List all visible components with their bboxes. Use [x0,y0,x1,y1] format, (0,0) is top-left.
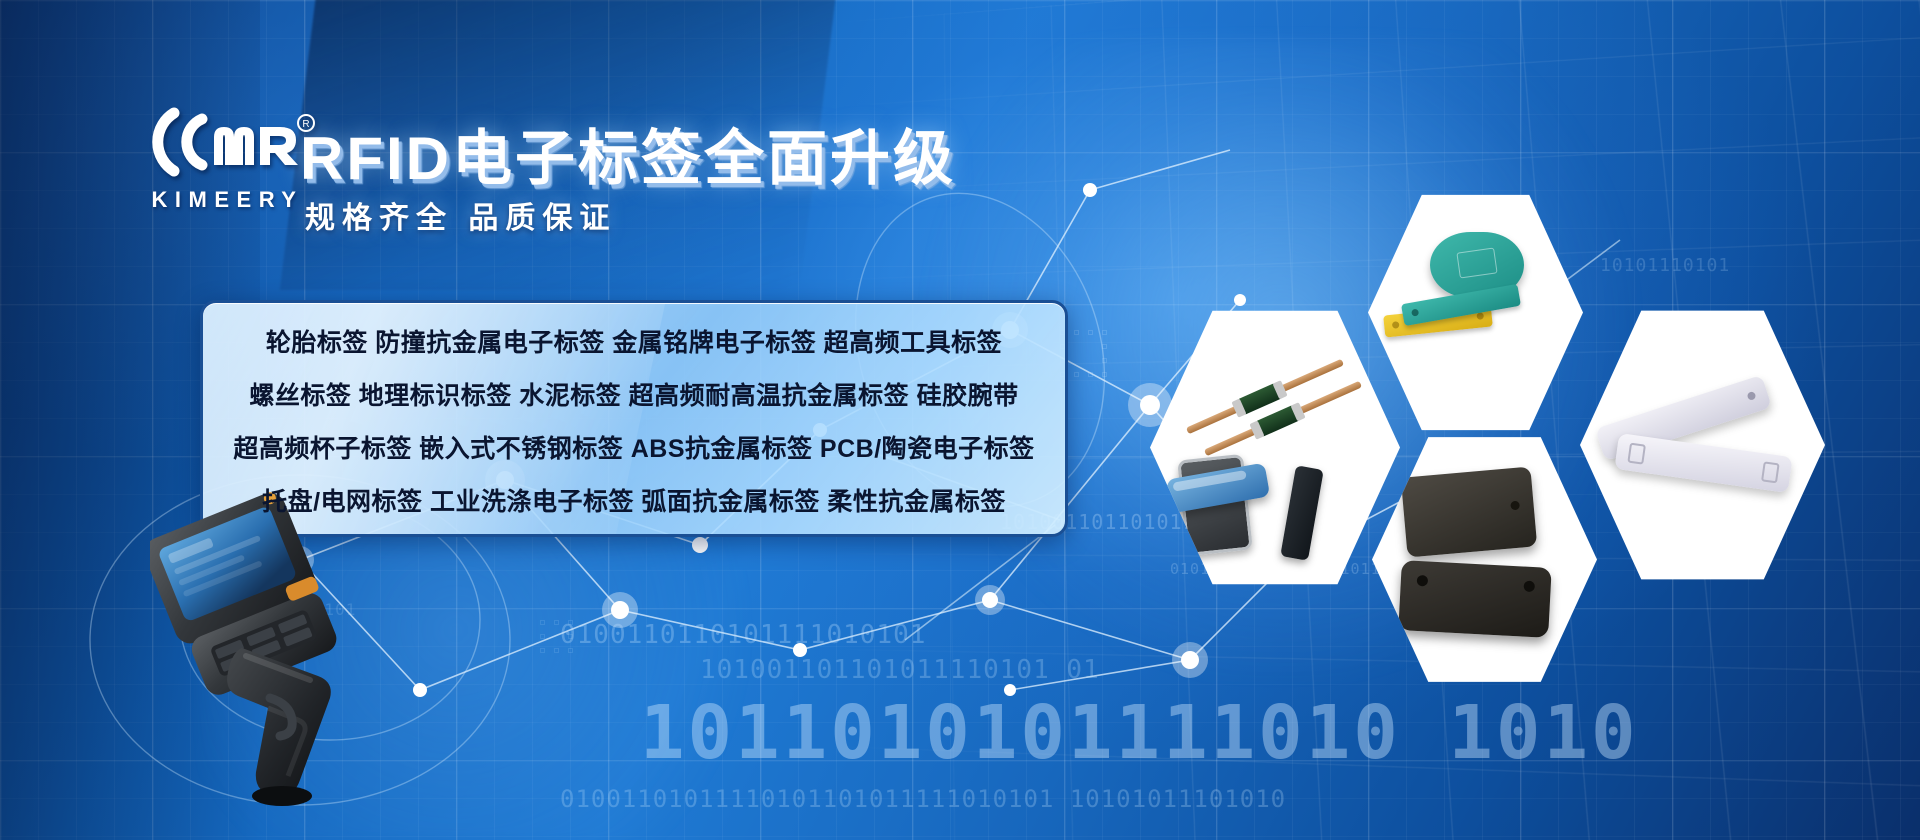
rfid-promo-banner: 0100110110101111010101 10100110110101111… [0,0,1920,840]
page-title: RFID电子标签全面升级 [300,110,956,197]
binary-strip: 10101110101 [1600,255,1730,276]
product-row: 螺丝标签 地理标识标签 水泥标签 超高频耐高温抗金属标签 硅胶腕带 [203,370,1065,423]
dark-abs-tag-1 [1401,466,1537,557]
dark-abs-tag-2 [1398,560,1551,638]
binary-strip: 01001101011110101101011111010101 1010101… [560,785,1286,813]
rfid-handheld-reader [150,480,410,810]
product-row: 超高频杯子标签 嵌入式不锈钢标签 ABS抗金属标签 PCB/陶瓷电子标签 [203,423,1065,476]
black-bar-tag [1280,465,1324,560]
binary-strip: 101001101101011110101 01 [700,655,1100,685]
product-list-panel: 轮胎标签 防撞抗金属电子标签 金属铭牌电子标签 超高频工具标签 螺丝标签 地理标… [200,300,1068,537]
binary-strip: 0100110110101111010101 [560,620,926,650]
white-flexible-tag-2 [1614,433,1792,493]
product-row: 托盘/电网标签 工业洗涤电子标签 弧面抗金属标签 柔性抗金属标签 [203,476,1065,529]
circuit-chip-icon [1060,330,1120,390]
brand-logo: R KIMEERY [140,103,315,213]
kimeery-wave-mark-icon: R [140,103,315,181]
binary-strip-large: 1011010101111010 1010 [640,690,1639,776]
product-row: 轮胎标签 防撞抗金属电子标签 金属铭牌电子标签 超高频工具标签 [203,317,1065,370]
page-subtitle: 规格齐全 品质保证 [305,193,616,237]
brand-name: KIMEERY [140,187,315,213]
